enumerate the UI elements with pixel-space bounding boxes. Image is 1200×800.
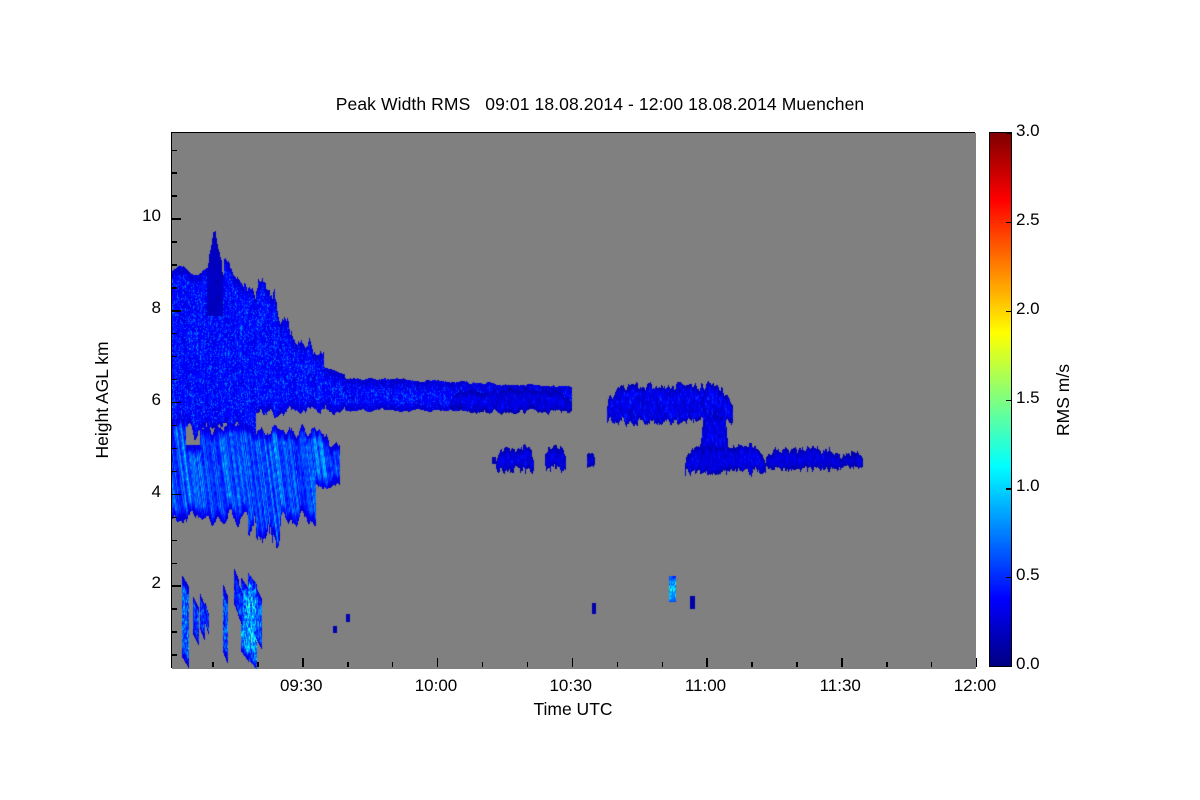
colorbar[interactable] — [989, 132, 1012, 667]
colorbar-tick — [1006, 400, 1011, 401]
y-minor-tick — [172, 264, 177, 265]
x-major-tick — [976, 658, 977, 667]
x-tick-label: 10:30 — [526, 676, 616, 696]
y-minor-tick — [172, 195, 177, 196]
colorbar-tick-label: 2.0 — [1016, 299, 1040, 319]
x-minor-tick — [392, 662, 393, 667]
colorbar-tick — [1006, 311, 1011, 312]
y-major-tick — [172, 218, 181, 219]
colorbar-tick-label: 2.5 — [1016, 210, 1040, 230]
x-axis-title: Time UTC — [171, 699, 975, 720]
y-tick-label: 4 — [11, 482, 161, 502]
x-tick-label: 12:00 — [930, 676, 1020, 696]
y-minor-tick — [172, 356, 177, 357]
y-minor-tick — [172, 471, 177, 472]
x-tick-label: 11:00 — [660, 676, 750, 696]
x-tick-label: 10:00 — [391, 676, 481, 696]
colorbar-tick-label: 3.0 — [1016, 121, 1040, 141]
x-tick-label: 09:30 — [256, 676, 346, 696]
x-minor-tick — [886, 662, 887, 667]
y-minor-tick — [172, 654, 177, 655]
figure-canvas: Peak Width RMS 09:01 18.08.2014 - 12:00 … — [0, 0, 1200, 800]
y-minor-tick — [172, 379, 177, 380]
x-minor-tick — [527, 662, 528, 667]
x-minor-tick — [482, 662, 483, 667]
x-major-tick — [572, 658, 573, 667]
y-minor-tick — [172, 287, 177, 288]
colorbar-tick — [1006, 666, 1011, 667]
y-tick-label: 2 — [11, 573, 161, 593]
y-minor-tick — [172, 448, 177, 449]
x-major-tick — [841, 658, 842, 667]
y-tick-label: 8 — [11, 298, 161, 318]
colorbar-tick — [1006, 488, 1011, 489]
y-minor-tick — [172, 631, 177, 632]
y-major-tick — [172, 402, 181, 403]
colorbar-tick-label: 1.5 — [1016, 388, 1040, 408]
y-minor-tick — [172, 608, 177, 609]
x-minor-tick — [257, 662, 258, 667]
page-title: Peak Width RMS 09:01 18.08.2014 - 12:00 … — [0, 94, 1200, 115]
x-minor-tick — [212, 662, 213, 667]
x-major-tick — [302, 658, 303, 667]
y-minor-tick — [172, 241, 177, 242]
x-major-tick — [706, 658, 707, 667]
colorbar-tick — [1006, 222, 1011, 223]
y-minor-tick — [172, 517, 177, 518]
y-minor-tick — [172, 563, 177, 564]
x-minor-tick — [796, 662, 797, 667]
colorbar-tick — [1006, 133, 1011, 134]
y-minor-tick — [172, 172, 177, 173]
colorbar-tick — [1006, 577, 1011, 578]
y-tick-label: 10 — [11, 206, 161, 226]
x-minor-tick — [662, 662, 663, 667]
x-major-tick — [437, 658, 438, 667]
y-minor-tick — [172, 333, 177, 334]
y-axis-title: Height AGL km — [92, 341, 113, 458]
y-tick-label: 6 — [11, 390, 161, 410]
y-major-tick — [172, 494, 181, 495]
x-minor-tick — [751, 662, 752, 667]
x-minor-tick — [931, 662, 932, 667]
x-tick-label: 11:30 — [795, 676, 885, 696]
y-minor-tick — [172, 150, 177, 151]
y-major-tick — [172, 310, 181, 311]
colorbar-tick-label: 0.0 — [1016, 654, 1040, 674]
y-major-tick — [172, 585, 181, 586]
plot-axes[interactable] — [171, 132, 975, 668]
colorbar-title: RMS m/s — [1053, 364, 1074, 436]
colorbar-tick-label: 1.0 — [1016, 476, 1040, 496]
y-minor-tick — [172, 540, 177, 541]
y-minor-tick — [172, 425, 177, 426]
x-minor-tick — [617, 662, 618, 667]
heatmap-data-field — [172, 133, 976, 669]
x-minor-tick — [347, 662, 348, 667]
colorbar-tick-label: 0.5 — [1016, 565, 1040, 585]
